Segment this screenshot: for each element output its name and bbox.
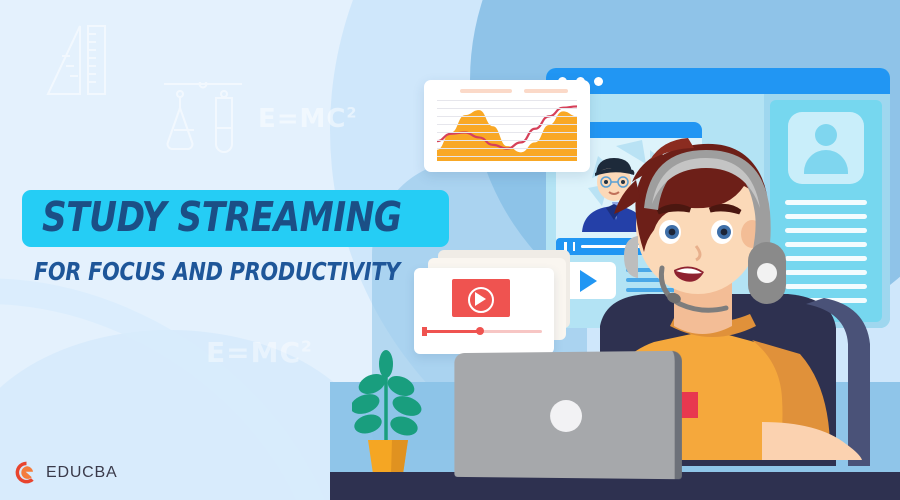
equation-top-text: E=MC <box>258 104 347 134</box>
laptop-logo-icon <box>550 400 582 432</box>
banner-canvas: E=MC2 E=MC2 STUDY STREAMING FOR FOCUS AN… <box>0 0 900 500</box>
chart-plot-area <box>437 99 577 161</box>
laptop-back-lid[interactable] <box>452 352 680 482</box>
video-thumbnail[interactable] <box>452 279 510 317</box>
title-badge: STUDY STREAMING <box>22 190 449 247</box>
chart-tab <box>524 89 568 93</box>
video-card-progress-fill <box>424 330 481 333</box>
equation-bottom-exponent: 2 <box>301 338 313 356</box>
headline-block: STUDY STREAMING FOR FOCUS AND PRODUCTIVI… <box>22 190 449 285</box>
ruler-triangle-icon <box>40 20 114 98</box>
video-card-start-marker <box>422 327 427 336</box>
equation-top-exponent: 2 <box>347 105 358 121</box>
equation-bottom: E=MC2 <box>206 336 313 369</box>
potted-plant <box>352 348 424 474</box>
video-card-progress-knob[interactable] <box>476 327 484 335</box>
chart-tab <box>460 89 512 93</box>
main-browser-titlebar <box>546 68 890 94</box>
play-icon[interactable] <box>475 292 486 306</box>
lab-flask-icon <box>158 82 248 164</box>
brand-logo[interactable]: EDUCBA <box>14 460 117 485</box>
page-title: STUDY STREAMING <box>42 197 402 238</box>
equation-bottom-text: E=MC <box>206 336 301 369</box>
page-subtitle: FOR FOCUS AND PRODUCTIVITY <box>34 259 415 285</box>
educba-e-logo-icon <box>14 460 39 485</box>
brand-name: EDUCBA <box>46 464 117 482</box>
equation-top: E=MC2 <box>258 104 357 134</box>
window-dot-3-icon <box>594 77 603 86</box>
laptop-lid <box>454 351 682 479</box>
